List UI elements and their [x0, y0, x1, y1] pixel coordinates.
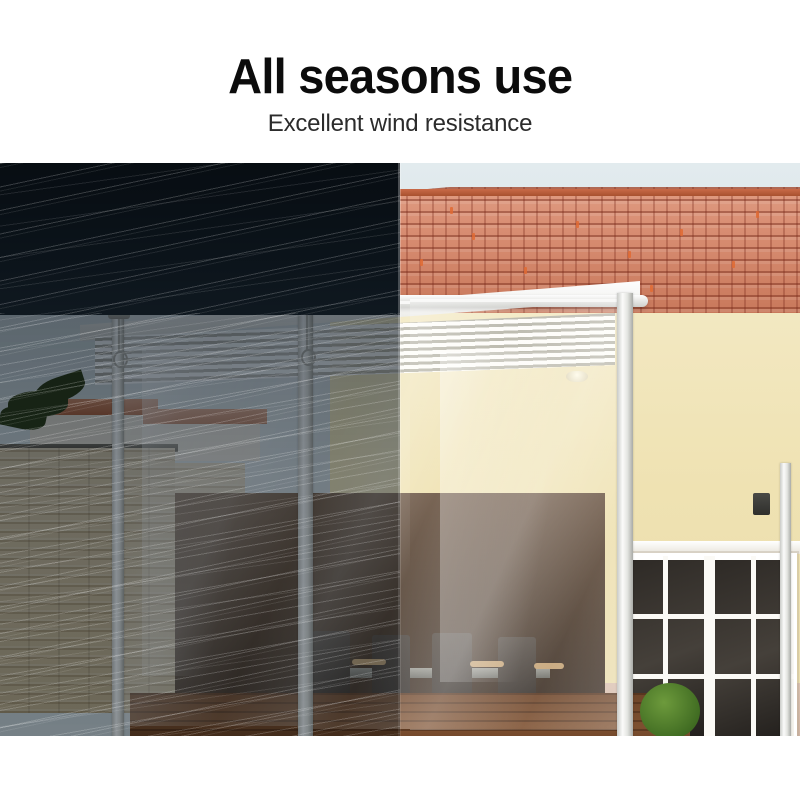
- page-title: All seasons use: [228, 49, 572, 105]
- roof-clip: [576, 221, 579, 228]
- rain-highlights: [0, 313, 400, 736]
- roof-clip: [524, 267, 527, 274]
- door-mullion: [625, 614, 794, 619]
- roof-clip: [650, 285, 653, 292]
- pergola-post-right: [617, 293, 633, 736]
- wall-lamp: [753, 493, 770, 515]
- roof-clip: [420, 259, 423, 266]
- roof-clip: [472, 233, 475, 240]
- pergola-post-far-right: [780, 463, 791, 736]
- roof-clip: [450, 207, 453, 214]
- page-subtitle: Excellent wind resistance: [268, 109, 532, 139]
- weather-split-line: [398, 163, 401, 736]
- product-photo: Note: Only prevent level 1-2 wind.: [0, 163, 800, 736]
- product-feature-card: All seasons use Excellent wind resistanc…: [0, 0, 800, 800]
- roof-clip: [732, 261, 735, 268]
- roof-clip: [680, 229, 683, 236]
- door-mullion: [625, 674, 794, 679]
- roof-clip: [756, 211, 759, 218]
- roof-clip: [628, 251, 631, 258]
- door-mullion: [751, 556, 756, 736]
- header-block: All seasons use Excellent wind resistanc…: [0, 0, 800, 163]
- shrub: [640, 683, 700, 736]
- clear-pvc-blind-right: [410, 299, 625, 730]
- blind-reflection: [440, 352, 610, 682]
- door-mullion: [704, 556, 715, 736]
